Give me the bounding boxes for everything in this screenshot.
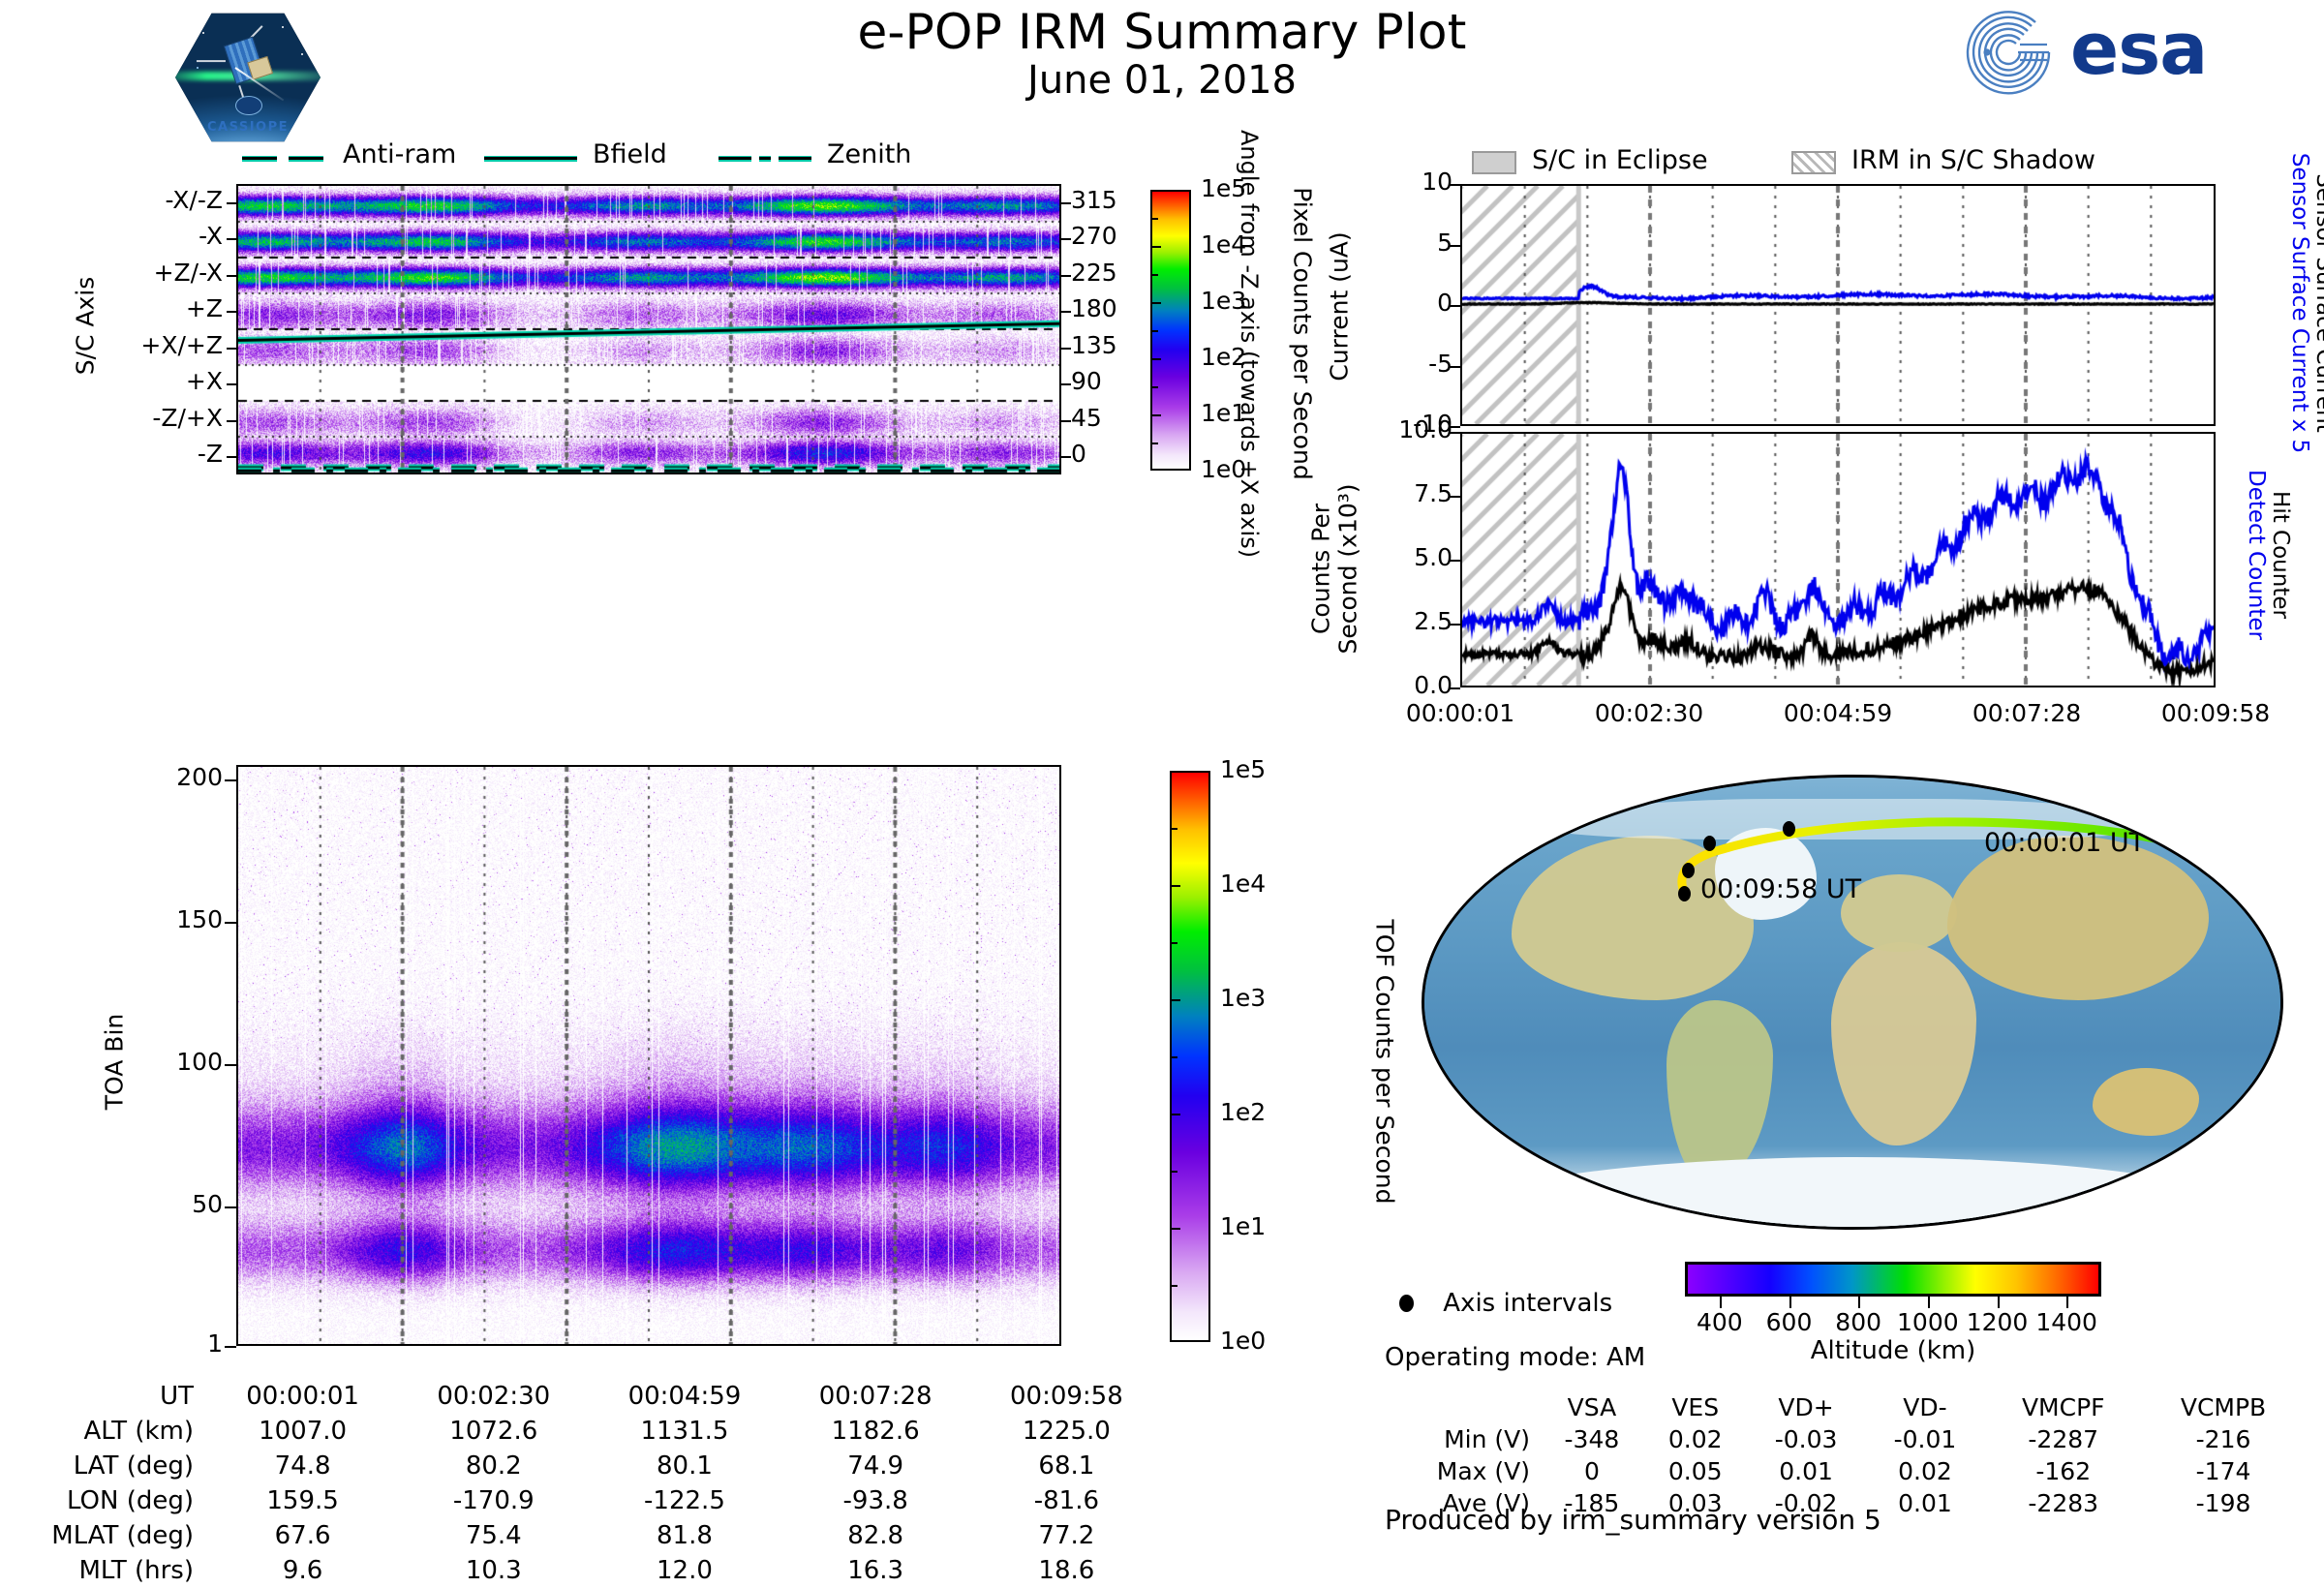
ephemeris-cell: 1131.5 [589, 1414, 780, 1449]
altitude-tickmark [1720, 1297, 1722, 1308]
legend-antiram-label: Anti-ram [343, 139, 456, 169]
counts-right-label-black: Hit Counter [2268, 410, 2293, 700]
current-ytick-label: 5 [1336, 229, 1452, 257]
toa-ytick-label: 1 [107, 1329, 223, 1358]
spectrogram-tick-left [227, 420, 236, 422]
toa-ytick-mark [225, 1064, 236, 1066]
tof-colorbar-tickmark [1170, 885, 1180, 887]
spectrogram-ytick-right: 180 [1071, 294, 1158, 322]
ephemeris-cell: 9.6 [207, 1553, 398, 1588]
toa-ytick-mark [225, 779, 236, 781]
pixel-colorbar-tickmark [1150, 302, 1161, 304]
counts-right-label-blue: Detect Counter [2244, 410, 2269, 700]
pixel-colorbar-minor-tick [1150, 274, 1158, 276]
voltage-cell: -348 [1540, 1423, 1644, 1455]
spectrogram-ytick-right: 45 [1071, 404, 1158, 432]
spectrogram-tick-right [1061, 238, 1071, 240]
ephemeris-cell: 18.6 [971, 1553, 1162, 1588]
voltage-cell: -174 [2142, 1455, 2305, 1487]
toa-bin-plot[interactable] [236, 765, 1061, 1346]
pixel-colorbar-tick-label: 1e1 [1201, 399, 1246, 427]
map-start-label: 00:00:01 UT [1984, 828, 2145, 858]
current-ytick-mark [1449, 245, 1460, 247]
pixel-colorbar-tickmark [1150, 246, 1161, 248]
voltage-cell: -0.01 [1866, 1423, 1985, 1455]
altitude-tickmark [1928, 1297, 1930, 1308]
counts-ytick-mark [1449, 496, 1460, 498]
counts-ytick-mark [1449, 432, 1460, 434]
current-ytick-mark [1449, 305, 1460, 307]
voltage-cell: 0.02 [1644, 1423, 1747, 1455]
spectrogram-ytick-right: 315 [1071, 186, 1158, 214]
altitude-tick-label: 800 [1835, 1308, 1881, 1336]
ephemeris-row: MLT (hrs)9.610.312.016.318.6 [0, 1553, 1162, 1588]
voltage-row: Max (V)00.050.010.02-162-174 [1385, 1455, 2305, 1487]
ephemeris-cell: 10.3 [398, 1553, 589, 1588]
voltage-cell: -162 [1984, 1455, 2142, 1487]
legend-zenith-label: Zenith [827, 139, 911, 169]
voltage-cell: -2283 [1984, 1487, 2142, 1519]
ephemeris-row: ALT (km)1007.01072.61131.51182.61225.0 [0, 1414, 1162, 1449]
ephemeris-row-label: ALT (km) [0, 1414, 207, 1449]
spectrogram-ytick-right: 270 [1071, 222, 1158, 250]
toa-ytick-label: 200 [107, 763, 223, 791]
spectrogram-tick-right [1061, 383, 1071, 385]
spectrogram-ytick-left: -X/-Z [87, 186, 223, 214]
altitude-tick-label: 400 [1697, 1308, 1743, 1336]
tof-colorbar-tick-label: 1e2 [1220, 1098, 1266, 1126]
axis-intervals-legend: Axis intervals [1399, 1288, 1612, 1318]
voltage-cell: -198 [2142, 1487, 2305, 1519]
toa-ytick-label: 100 [107, 1048, 223, 1076]
voltage-cell: 0 [1540, 1455, 1644, 1487]
pixel-colorbar-tick-label: 1e4 [1201, 230, 1246, 259]
current-ytick-label: 0 [1336, 289, 1452, 317]
ephemeris-cell: 67.6 [207, 1518, 398, 1553]
track-point-2 [1783, 821, 1795, 837]
altitude-tick-label: 1400 [2035, 1308, 2097, 1336]
altitude-colorbar-label: Altitude (km) [1685, 1336, 2101, 1365]
spectrogram-ytick-left: +X/+Z [87, 331, 223, 359]
counts-ytick-label: 10.0 [1317, 415, 1452, 443]
counts-xtick-label: 00:04:59 [1756, 699, 1920, 727]
altitude-colorbar [1685, 1262, 2101, 1297]
altitude-tick-label: 1000 [1897, 1308, 1959, 1336]
right-panels-legend: S/C in Eclipse IRM in S/C Shadow [1472, 147, 2324, 180]
voltage-cell: -2287 [1984, 1423, 2142, 1455]
spectrogram-tick-left [227, 238, 236, 240]
spectrogram-plot[interactable] [236, 184, 1061, 474]
ephemeris-cell: 82.8 [780, 1518, 971, 1553]
voltage-column-header: VD- [1866, 1391, 1985, 1423]
toa-ytick-mark [225, 1206, 236, 1208]
voltage-column-header: VD+ [1747, 1391, 1866, 1423]
spectrogram-tick-right [1061, 456, 1071, 458]
spectrogram-ytick-left: +Z [87, 294, 223, 322]
produced-by-footer: Produced by irm_summary version 5 [1385, 1504, 1881, 1536]
counts-ytick-label: 7.5 [1317, 479, 1452, 507]
counts-ytick-mark [1449, 687, 1460, 689]
eclipse-legend-label: S/C in Eclipse [1532, 145, 1708, 175]
pixel-colorbar-minor-tick [1150, 218, 1158, 220]
tof-colorbar-tick-label: 1e0 [1220, 1327, 1266, 1355]
voltage-header-row: VSAVESVD+VD-VMCPFVCMPB [1385, 1391, 2305, 1423]
track-point-start [2202, 843, 2215, 859]
ephemeris-cell: 159.5 [207, 1483, 398, 1518]
spectrogram-legend: Anti-ram Bfield Zenith [242, 143, 920, 176]
spectrogram-tick-right [1061, 202, 1071, 204]
ephemeris-cell: 75.4 [398, 1518, 589, 1553]
ephemeris-row-label: LAT (deg) [0, 1449, 207, 1483]
altitude-tickmark [1789, 1297, 1791, 1308]
ephemeris-cell: 77.2 [971, 1518, 1162, 1553]
current-ytick-label: -5 [1336, 350, 1452, 378]
spectrogram-ytick-right: 0 [1071, 440, 1158, 468]
ephemeris-row: LON (deg)159.5-170.9-122.5-93.8-81.6 [0, 1483, 1162, 1518]
ephemeris-cell: 80.1 [589, 1449, 780, 1483]
pixel-colorbar-tick-label: 1e5 [1201, 174, 1246, 202]
ephemeris-row: LAT (deg)74.880.280.174.968.1 [0, 1449, 1162, 1483]
altitude-tick-label: 600 [1766, 1308, 1813, 1336]
eclipse-swatch-icon [1472, 151, 1516, 174]
spectrogram-ytick-right: 135 [1071, 331, 1158, 359]
esa-logo: esa [1964, 8, 2254, 97]
patch-label: CASSIOPE [175, 120, 321, 135]
voltage-column-header: VCMPB [2142, 1391, 2305, 1423]
current-ytick-mark [1449, 184, 1460, 186]
current-plot[interactable] [1460, 184, 2216, 426]
ephemeris-row-label: UT [0, 1379, 207, 1414]
tof-colorbar-minor-tick [1170, 1171, 1177, 1173]
current-canvas [1462, 186, 2214, 424]
shadow-legend-label: IRM in S/C Shadow [1851, 145, 2095, 175]
counts-ytick-mark [1449, 560, 1460, 562]
voltage-cell: 0.01 [1747, 1455, 1866, 1487]
pixel-colorbar-tick-label: 1e2 [1201, 343, 1246, 371]
voltage-column-header: VMCPF [1984, 1391, 2142, 1423]
track-point-end [1678, 886, 1691, 901]
tof-colorbar-tickmark [1170, 1228, 1180, 1230]
spectrogram-tick-left [227, 456, 236, 458]
esa-wordmark: esa [2070, 15, 2207, 83]
ephemeris-cell: 16.3 [780, 1553, 971, 1588]
tof-colorbar-tick-label: 1e4 [1220, 870, 1266, 898]
altitude-tickmark [1858, 1297, 1860, 1308]
voltage-column-header: VES [1644, 1391, 1747, 1423]
counts-xtick-label: 00:00:01 [1378, 699, 1543, 727]
axis-intervals-label: Axis intervals [1443, 1289, 1612, 1318]
pixel-colorbar-minor-tick [1150, 443, 1158, 444]
voltage-cell: -0.03 [1747, 1423, 1866, 1455]
counts-ytick-label: 0.0 [1317, 671, 1452, 699]
spectrogram-tick-right [1061, 275, 1071, 277]
current-ytick-mark [1449, 366, 1460, 368]
spectrogram-canvas [238, 186, 1059, 473]
counts-ytick-label: 2.5 [1317, 607, 1452, 635]
ephemeris-cell: 00:09:58 [971, 1379, 1162, 1414]
tof-colorbar-minor-tick [1170, 828, 1177, 830]
ephemeris-cell: 00:00:01 [207, 1379, 398, 1414]
altitude-tick-label: 1200 [1967, 1308, 2029, 1336]
tof-colorbar-minor-tick [1170, 942, 1177, 944]
spectrogram-tick-right [1061, 311, 1071, 313]
ephemeris-cell: -122.5 [589, 1483, 780, 1518]
cassiope-mission-patch-icon: CASSIOPE [170, 6, 325, 149]
ephemeris-cell: 1182.6 [780, 1414, 971, 1449]
ephemeris-cell: 74.9 [780, 1449, 971, 1483]
voltage-row: Min (V)-3480.02-0.03-0.01-2287-216 [1385, 1423, 2305, 1455]
ephemeris-cell: 74.8 [207, 1449, 398, 1483]
tof-colorbar-tickmark [1170, 1114, 1180, 1115]
current-ytick-label: 10 [1336, 168, 1452, 196]
ephemeris-cell: 12.0 [589, 1553, 780, 1588]
track-point-1 [1703, 836, 1716, 851]
spectrogram-ytick-right: 225 [1071, 259, 1158, 287]
toa-ytick-label: 150 [107, 905, 223, 933]
spectrogram-ytick-left: +Z/-X [87, 259, 223, 287]
ephemeris-cell: 1225.0 [971, 1414, 1162, 1449]
voltage-row-label: Max (V) [1385, 1455, 1540, 1487]
spectrogram-tick-left [227, 348, 236, 350]
voltage-cell: -216 [2142, 1423, 2305, 1455]
ephemeris-cell: 81.8 [589, 1518, 780, 1553]
ephemeris-cell: 00:02:30 [398, 1379, 589, 1414]
ephemeris-row: UT00:00:0100:02:3000:04:5900:07:2800:09:… [0, 1379, 1162, 1414]
operating-mode-label: Operating mode: AM [1385, 1343, 1645, 1372]
axis-interval-dot-icon [1399, 1295, 1414, 1312]
current-right-label-black: Sensor Surface Current [2311, 100, 2324, 506]
toa-bin-canvas [238, 767, 1059, 1344]
spectrogram-tick-right [1061, 348, 1071, 350]
ephemeris-cell: -81.6 [971, 1483, 1162, 1518]
altitude-tickmark [1998, 1297, 2000, 1308]
map-ellipse: 00:00:01 UT 00:09:58 UT [1422, 775, 2283, 1230]
ephemeris-cell: 00:04:59 [589, 1379, 780, 1414]
tof-counts-colorbar-label: TOF Counts per Second [1371, 772, 1399, 1353]
map-end-label: 00:09:58 UT [1700, 874, 1861, 904]
counts-plot[interactable] [1460, 432, 2216, 687]
ephemeris-row-label: MLT (hrs) [0, 1553, 207, 1588]
orbit-track [1424, 778, 2283, 1230]
ephemeris-cell: 00:07:28 [780, 1379, 971, 1414]
spectrogram-ytick-left: +X [87, 367, 223, 395]
toa-ytick-label: 50 [107, 1190, 223, 1218]
esa-swirl-icon [1964, 8, 2057, 97]
spectrogram-ytick-right: 90 [1071, 367, 1158, 395]
voltage-cell: 0.02 [1866, 1455, 1985, 1487]
pixel-colorbar-tickmark [1150, 358, 1161, 360]
tof-colorbar-minor-tick [1170, 1056, 1177, 1058]
shadow-swatch-icon [1791, 151, 1836, 174]
tof-colorbar-tick-label: 1e1 [1220, 1212, 1266, 1240]
spectrogram-ytick-left: -Z [87, 440, 223, 468]
spectrogram-tick-left [227, 202, 236, 204]
ephemeris-cell: 80.2 [398, 1449, 589, 1483]
voltage-cell: 0.05 [1644, 1455, 1747, 1487]
voltage-cell: 0.01 [1866, 1487, 1985, 1519]
ephemeris-table: UT00:00:0100:02:3000:04:5900:07:2800:09:… [0, 1379, 1162, 1588]
tof-colorbar-tick-label: 1e3 [1220, 984, 1266, 1012]
ephemeris-cell: 68.1 [971, 1449, 1162, 1483]
pixel-colorbar-minor-tick [1150, 330, 1158, 332]
altitude-tickmark [2066, 1297, 2068, 1308]
voltage-corner [1385, 1391, 1540, 1423]
ephemeris-cell: -93.8 [780, 1483, 971, 1518]
spectrogram-tick-left [227, 311, 236, 313]
ephemeris-cell: 1007.0 [207, 1414, 398, 1449]
track-point-3 [1682, 863, 1695, 878]
toa-ytick-mark [225, 922, 236, 924]
counts-ytick-label: 5.0 [1317, 543, 1452, 571]
counts-xtick-label: 00:09:58 [2133, 699, 2298, 727]
tof-colorbar-tick-label: 1e5 [1220, 755, 1266, 783]
pixel-colorbar-tick-label: 1e0 [1201, 455, 1246, 483]
voltage-row-label: Min (V) [1385, 1423, 1540, 1455]
spectrogram-ytick-left: -Z/+X [87, 404, 223, 432]
ephemeris-cell: 1072.6 [398, 1414, 589, 1449]
ephemeris-row-label: LON (deg) [0, 1483, 207, 1518]
spectrogram-tick-left [227, 383, 236, 385]
pixel-colorbar-tick-label: 1e3 [1201, 287, 1246, 315]
ephemeris-cell: -170.9 [398, 1483, 589, 1518]
ephemeris-row: MLAT (deg)67.675.481.882.877.2 [0, 1518, 1162, 1553]
tof-colorbar-minor-tick [1170, 1285, 1177, 1287]
ephemeris-row-label: MLAT (deg) [0, 1518, 207, 1553]
spectrogram-ytick-left: -X [87, 222, 223, 250]
toa-ytick-mark [225, 1346, 236, 1348]
voltage-column-header: VSA [1540, 1391, 1644, 1423]
pixel-colorbar-tickmark [1150, 414, 1161, 416]
spectrogram-tick-right [1061, 420, 1071, 422]
counts-xtick-label: 00:02:30 [1567, 699, 1731, 727]
voltage-summary-table: VSAVESVD+VD-VMCPFVCMPBMin (V)-3480.02-0.… [1385, 1391, 2305, 1519]
ground-track-map[interactable]: 00:00:01 UT 00:09:58 UT [1422, 775, 2283, 1230]
counts-xtick-label: 00:07:28 [1944, 699, 2109, 727]
spectrogram-tick-left [227, 275, 236, 277]
legend-bfield-label: Bfield [593, 139, 667, 169]
tof-colorbar-tickmark [1170, 999, 1180, 1001]
pixel-colorbar-minor-tick [1150, 386, 1158, 388]
counts-canvas [1462, 434, 2214, 686]
counts-ytick-mark [1449, 624, 1460, 626]
